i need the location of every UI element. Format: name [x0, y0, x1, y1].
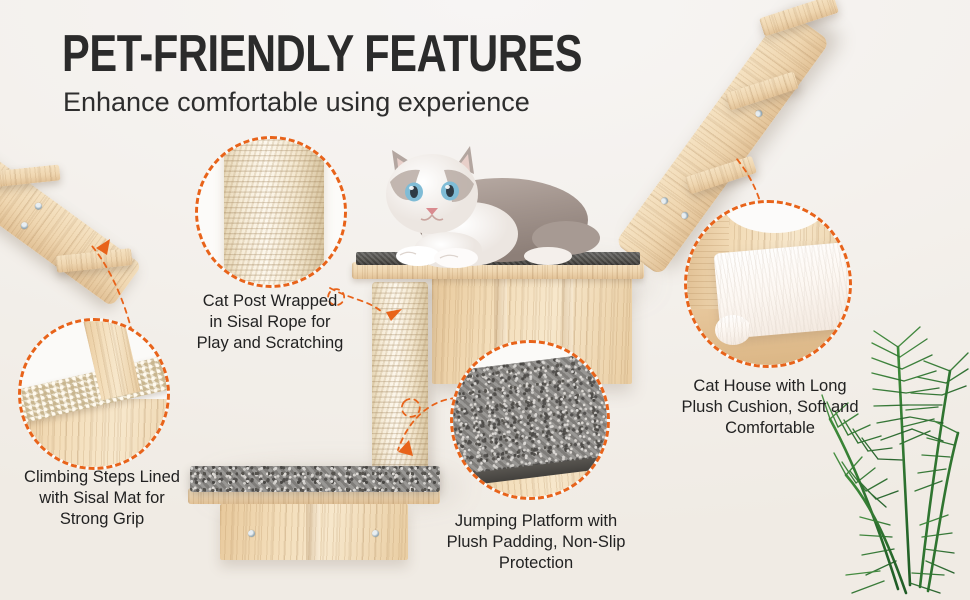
inset-plush-carpet: [450, 340, 610, 500]
sisal-post: [372, 282, 428, 482]
inset-sisal-mat-step: [18, 318, 170, 470]
jumping-platform-mat: [190, 466, 440, 492]
left-wall-ramp: [0, 118, 142, 307]
page-title: PET-FRIENDLY FEATURES: [62, 28, 582, 80]
page-subtitle: Enhance comfortable using experience: [63, 88, 530, 118]
callout-cat-post: Cat Post Wrapped in Sisal Rope for Play …: [174, 291, 366, 354]
callout-jumping-platform: Jumping Platform with Plush Padding, Non…: [432, 511, 640, 574]
callout-climbing-steps: Climbing Steps Lined with Sisal Mat for …: [0, 467, 204, 530]
infographic-canvas: PET-FRIENDLY FEATURES Enhance comfortabl…: [0, 0, 970, 600]
cat-photo: [352, 138, 602, 278]
inset-plush-cushion: [684, 200, 852, 368]
callout-cat-house: Cat House with Long Plush Cushion, Soft …: [664, 376, 876, 439]
jumping-platform-bracket: [220, 504, 408, 560]
inset-sisal-rope: [195, 136, 347, 288]
